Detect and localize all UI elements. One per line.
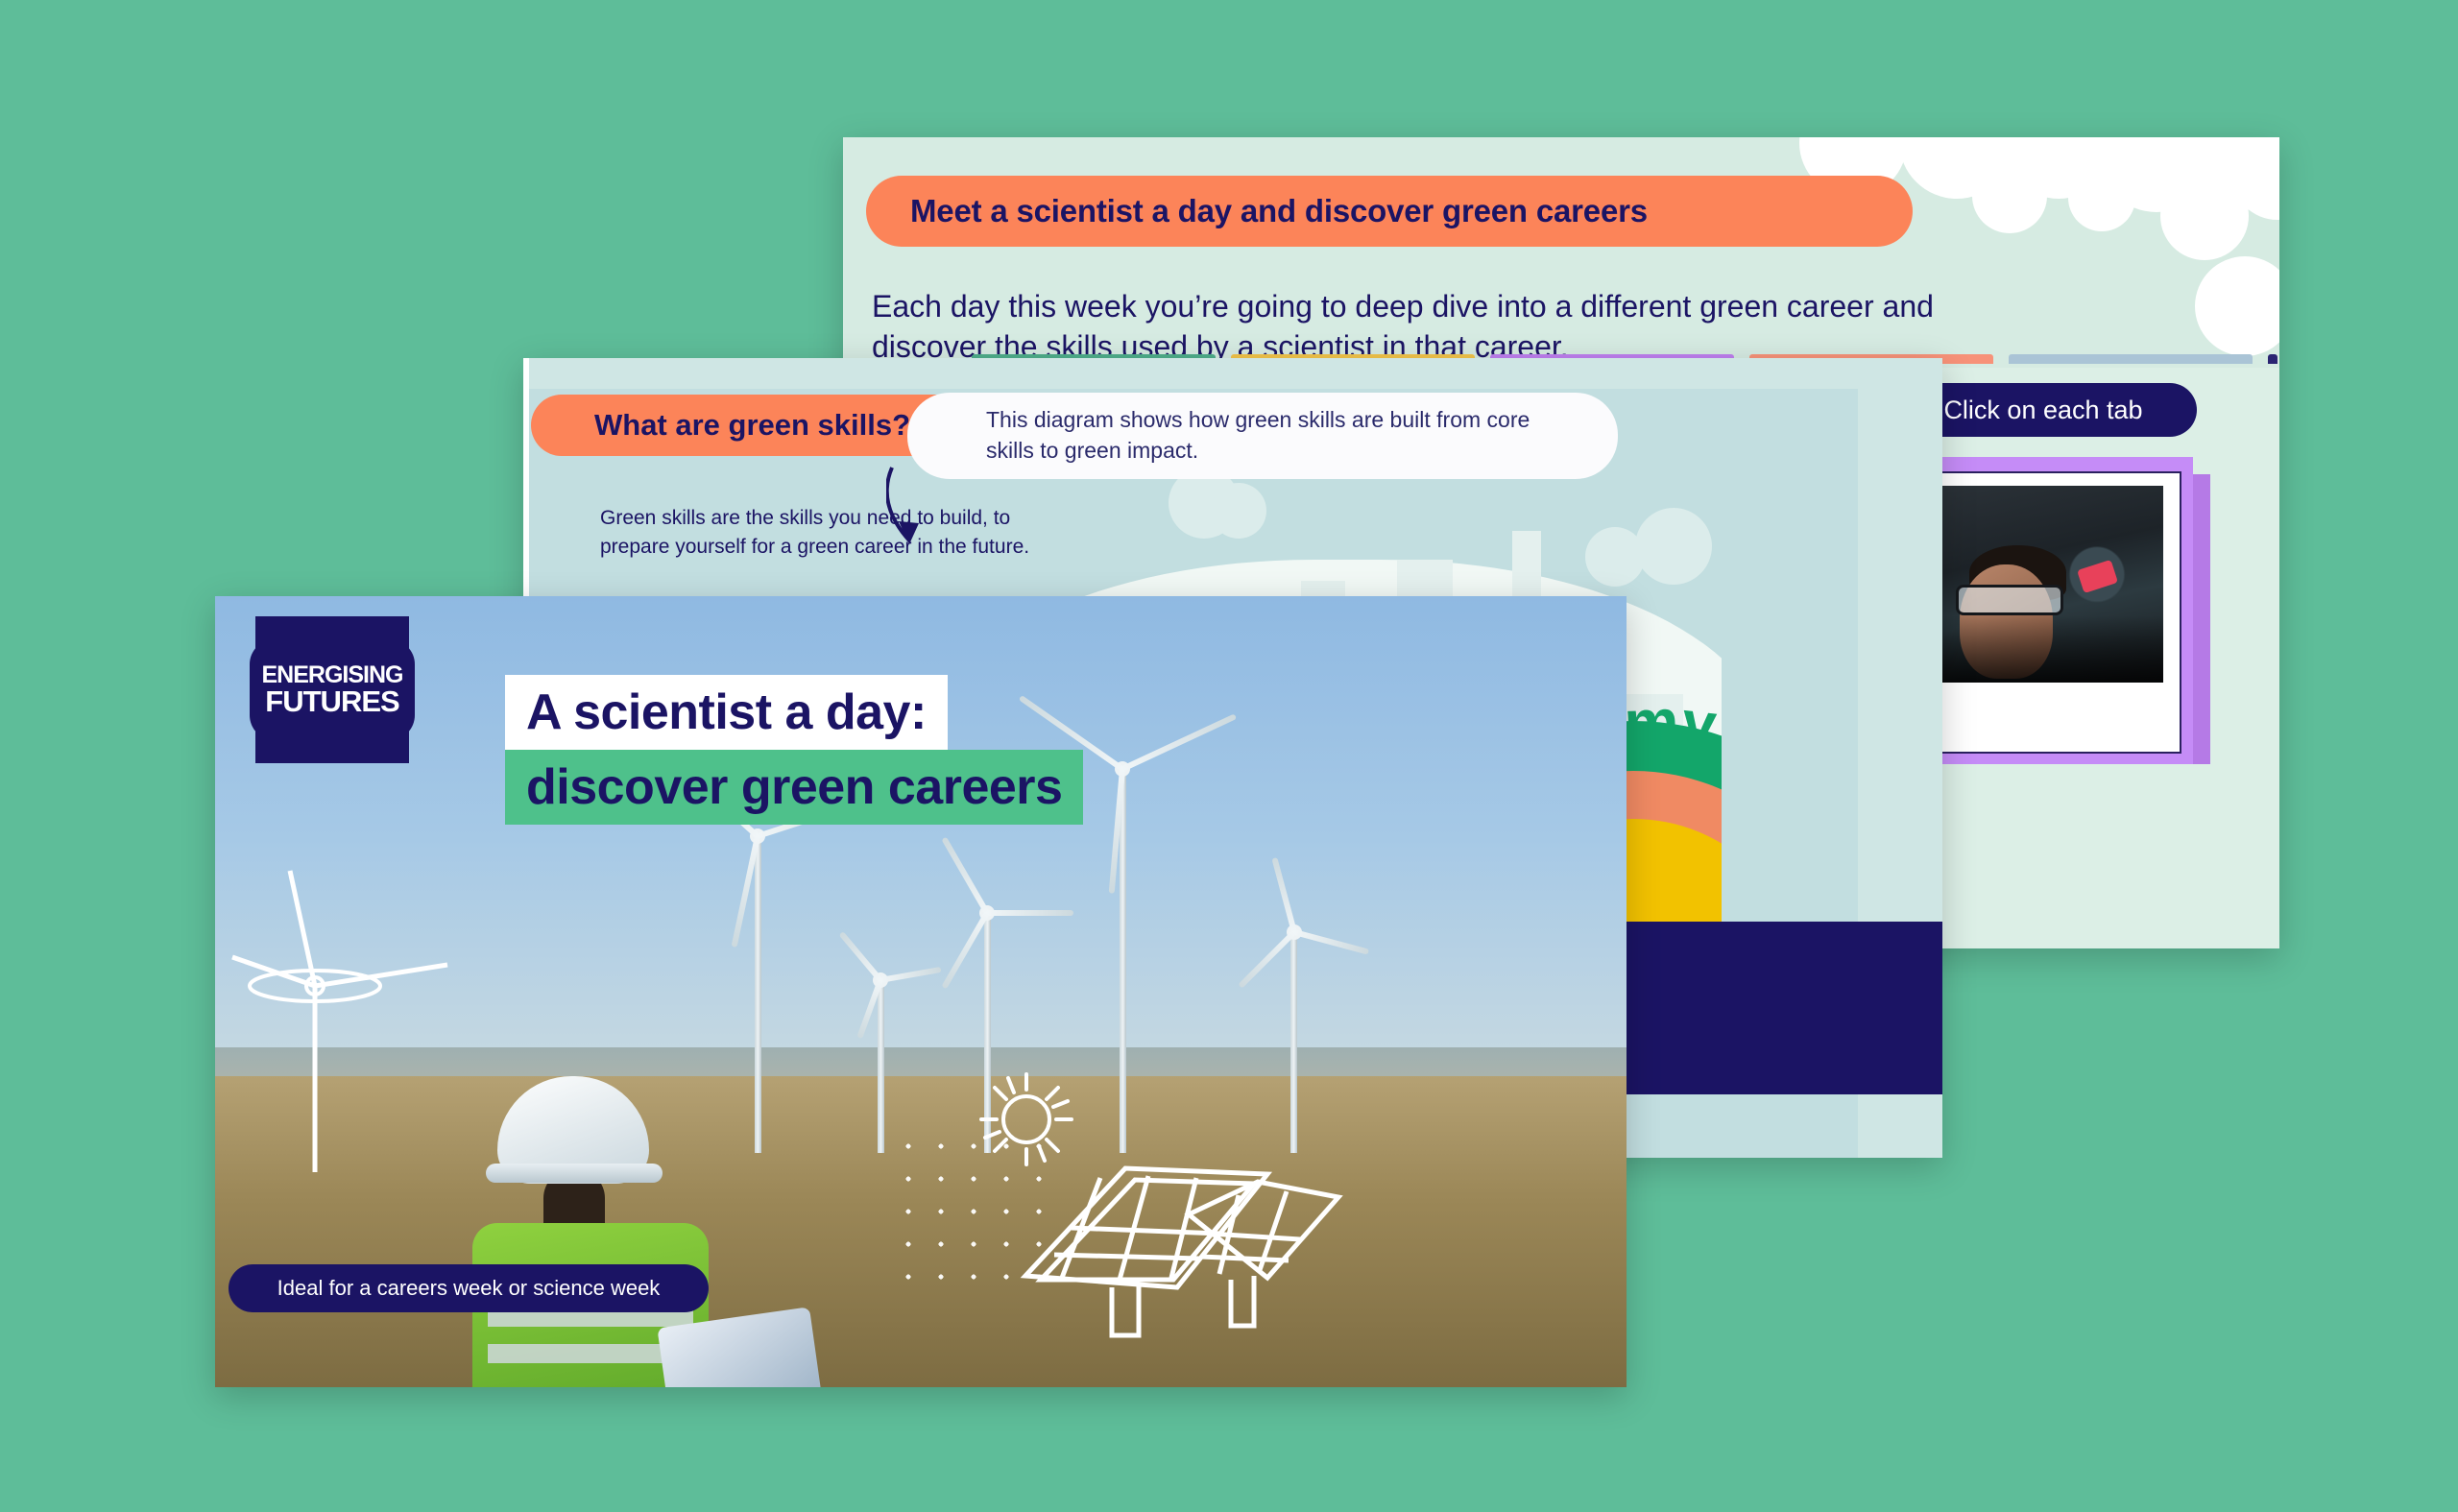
tab-item[interactable] [2009, 354, 2253, 364]
title-line-2: discover green careers [526, 758, 1062, 816]
slide-title[interactable]: ENERGISING FUTURES A scientist a day: di… [215, 596, 1627, 1387]
title-line-1: A scientist a day: [526, 684, 927, 741]
mid-slide-body: Green skills are the skills you need to … [600, 504, 1061, 563]
tab-item[interactable] [2268, 354, 2277, 364]
logo-line-1: ENERGISING [262, 663, 403, 687]
slide-deck-stage: Meet a scientist a day and discover gree… [0, 0, 2458, 1512]
diagram-callout-text: This diagram shows how green skills are … [986, 405, 1581, 466]
wind-turbine-photo [753, 836, 762, 1153]
worker-photo [436, 1081, 753, 1387]
diagram-callout-bubble: This diagram shows how green skills are … [907, 393, 1618, 479]
click-on-each-tab-label: Click on each tab [1943, 396, 2142, 425]
wind-turbine-photo [1118, 769, 1127, 1153]
title-line-1-box: A scientist a day: [505, 675, 948, 750]
back-slide-title: Meet a scientist a day and discover gree… [910, 193, 1648, 229]
photo-mechanic [1942, 486, 2163, 683]
energising-futures-logo: ENERGISING FUTURES [250, 639, 415, 740]
solar-panel-icon [1012, 1134, 1348, 1374]
wind-turbine-icon [227, 865, 467, 1182]
logo-line-2: FUTURES [265, 687, 398, 716]
front-slide-banner: Ideal for a careers week or science week [229, 1264, 709, 1312]
title-line-2-box: discover green careers [505, 750, 1083, 825]
wind-turbine-photo [1290, 932, 1297, 1153]
mid-slide-top-band [523, 358, 1942, 389]
back-slide-title-pill: Meet a scientist a day and discover gree… [866, 176, 1913, 247]
front-slide-banner-label: Ideal for a careers week or science week [277, 1276, 661, 1301]
wind-turbine-photo [878, 980, 883, 1153]
mid-slide-title: What are green skills? [594, 408, 910, 443]
